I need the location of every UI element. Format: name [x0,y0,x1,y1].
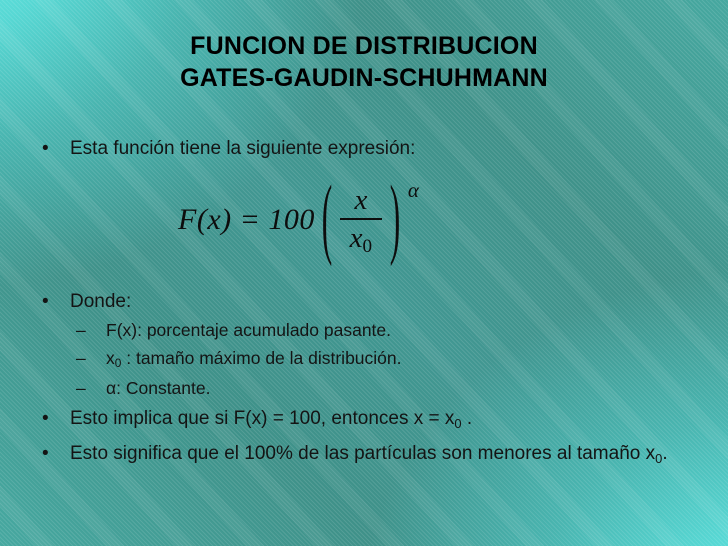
equation-numerator: x [345,186,376,218]
bullet-implica-label: Esto implica que si F(x) = 100, entonces… [70,406,706,433]
dash-icon: – [34,376,106,401]
equation-denominator-base: x [350,222,363,254]
subbullet-x0-label: x0 : tamaño máximo de la distribución. [106,346,706,373]
bullet-dot-icon: • [34,289,70,315]
bullet-significa: • Esto significa que el 100% de las part… [34,441,706,468]
bullet-dot-icon: • [34,406,70,432]
equation-exponent: α [408,180,419,201]
equation-gates-gaudin-schuhmann: F(x) = 100 ( x x0 ) α [178,186,419,253]
bullet-significa-label: Esto significa que el 100% de las partíc… [70,441,706,468]
bullet-implica-subscript: 0 [454,416,461,431]
bullet-donde: • Donde: [34,289,706,315]
dash-icon: – [34,346,106,371]
bullet-dot-icon: • [34,136,70,162]
subbullet-fx: – F(x): porcentaje acumulado pasante. [34,318,706,343]
bullet-donde-label: Donde: [70,289,706,315]
equation-lhs: F(x) = 100 [178,205,315,235]
equation-lhs-text: F(x) = 100 [178,203,315,236]
bullet-expression: • Esta función tiene la siguiente expres… [34,136,706,162]
bullet-significa-line1: Esto significa que el 100% de las partíc… [70,443,552,464]
subbullet-x0-subscript: 0 [115,356,122,370]
title-line-1: FUNCION DE DISTRIBUCION [0,30,728,62]
bullet-significa-line2-subscript: 0 [655,451,662,466]
title-line-2: GATES-GAUDIN-SCHUHMANN [0,62,728,94]
bullet-implica-prefix: Esto implica que si F(x) = 100, entonces… [70,408,454,429]
equation-fraction: x x0 [340,186,382,253]
equation-denominator-subscript: 0 [363,236,373,257]
subbullet-x0-suffix: : tamaño máximo de la distribución. [121,348,401,368]
dash-icon: – [34,318,106,343]
subbullet-x0: – x0 : tamaño máximo de la distribución. [34,346,706,373]
bullet-implica: • Esto implica que si F(x) = 100, entonc… [34,406,706,433]
bullet-dot-icon: • [34,441,70,467]
bullet-significa-line2-suffix: . [662,443,667,464]
paren-open-icon: ( [322,175,333,265]
equation-denominator: x0 [341,220,381,253]
slide-canvas: FUNCION DE DISTRIBUCION GATES-GAUDIN-SCH… [0,0,728,546]
paren-close-icon: ) [390,175,401,265]
slide-content: FUNCION DE DISTRIBUCION GATES-GAUDIN-SCH… [0,0,728,546]
slide-title: FUNCION DE DISTRIBUCION GATES-GAUDIN-SCH… [0,30,728,94]
subbullet-fx-label: F(x): porcentaje acumulado pasante. [106,318,706,343]
bullet-expression-label: Esta función tiene la siguiente expresió… [70,136,706,162]
bullet-significa-line2-prefix: al tamaño x [557,443,655,464]
subbullet-alpha: – α: Constante. [34,376,706,401]
subbullet-alpha-label: α: Constante. [106,376,706,401]
subbullet-x0-prefix: x [106,348,115,368]
bullet-implica-suffix: . [462,408,473,429]
